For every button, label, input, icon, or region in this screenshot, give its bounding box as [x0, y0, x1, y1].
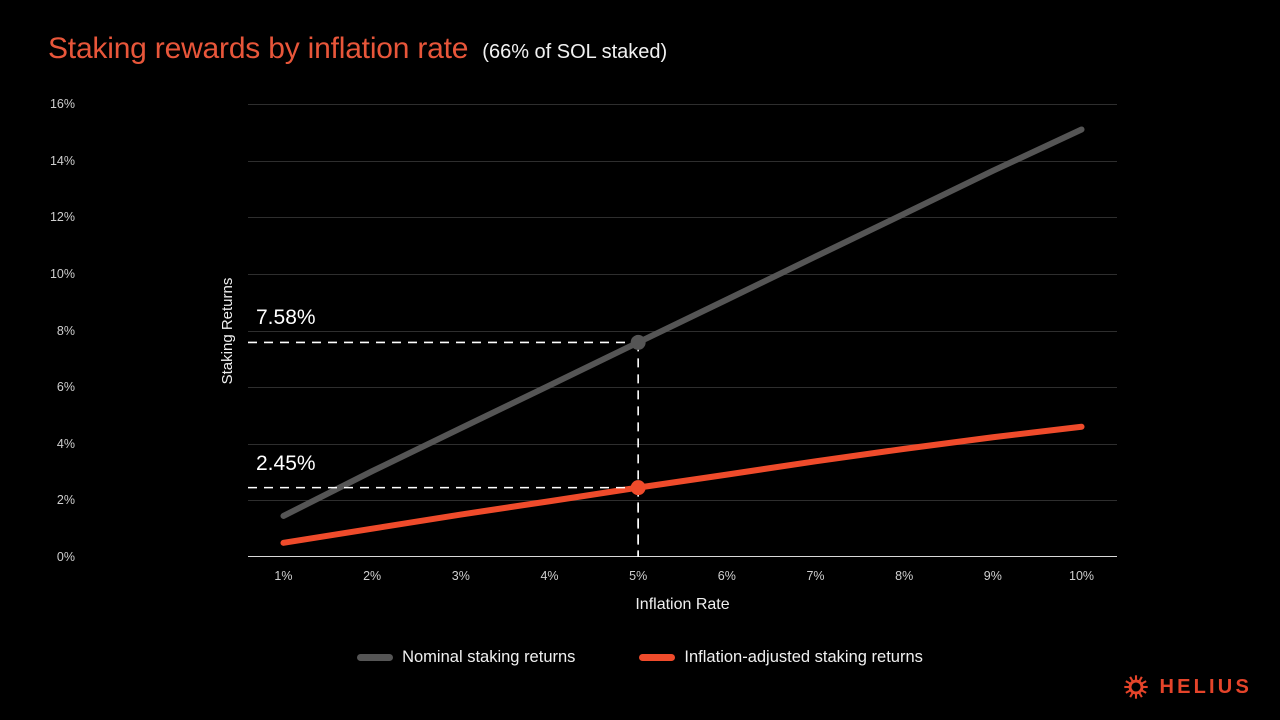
y-tick-label: 16%	[29, 97, 75, 111]
legend-label: Inflation-adjusted staking returns	[684, 648, 922, 667]
data-point-marker[interactable]	[631, 480, 646, 495]
legend-item[interactable]: Nominal staking returns	[357, 648, 575, 667]
legend-swatch	[357, 654, 393, 661]
chart-plot-area: 0%2%4%6%8%10%12%14%16% 1%2%3%4%5%6%7%8%9…	[248, 104, 1117, 557]
legend-item[interactable]: Inflation-adjusted staking returns	[639, 648, 922, 667]
chart-legend: Nominal staking returnsInflation-adjuste…	[0, 648, 1280, 667]
annotation-label: 2.45%	[256, 452, 316, 476]
chart-series-layer	[248, 104, 1117, 557]
y-tick-label: 0%	[29, 550, 75, 564]
x-tick-label: 4%	[540, 569, 558, 583]
y-tick-label: 6%	[29, 380, 75, 394]
y-tick-label: 12%	[29, 210, 75, 224]
x-tick-label: 10%	[1069, 569, 1094, 583]
legend-swatch	[639, 654, 675, 661]
helius-wordmark: HELIUS	[1159, 676, 1252, 699]
x-tick-label: 9%	[984, 569, 1002, 583]
y-tick-label: 14%	[29, 154, 75, 168]
y-axis-label: Staking Returns	[219, 277, 236, 384]
x-tick-label: 5%	[629, 569, 647, 583]
x-tick-label: 3%	[452, 569, 470, 583]
x-tick-label: 2%	[363, 569, 381, 583]
legend-label: Nominal staking returns	[402, 648, 575, 667]
slide-canvas: Staking rewards by inflation rate (66% o…	[0, 0, 1280, 720]
title-block: Staking rewards by inflation rate (66% o…	[48, 32, 667, 66]
y-tick-label: 10%	[29, 267, 75, 281]
page-subtitle: (66% of SOL staked)	[482, 41, 667, 64]
x-tick-label: 7%	[806, 569, 824, 583]
annotation-label: 7.58%	[256, 306, 316, 330]
x-tick-label: 6%	[718, 569, 736, 583]
helius-logo: HELIUS	[1123, 674, 1252, 700]
x-axis-label: Inflation Rate	[248, 596, 1117, 614]
y-tick-label: 2%	[29, 493, 75, 507]
x-tick-label: 8%	[895, 569, 913, 583]
page-title: Staking rewards by inflation rate	[48, 32, 468, 66]
helius-sunburst-icon	[1123, 674, 1149, 700]
series-line	[283, 427, 1081, 543]
y-tick-label: 4%	[29, 437, 75, 451]
data-point-marker[interactable]	[631, 335, 646, 350]
y-tick-label: 8%	[29, 324, 75, 338]
series-line	[283, 129, 1081, 515]
x-tick-label: 1%	[274, 569, 292, 583]
